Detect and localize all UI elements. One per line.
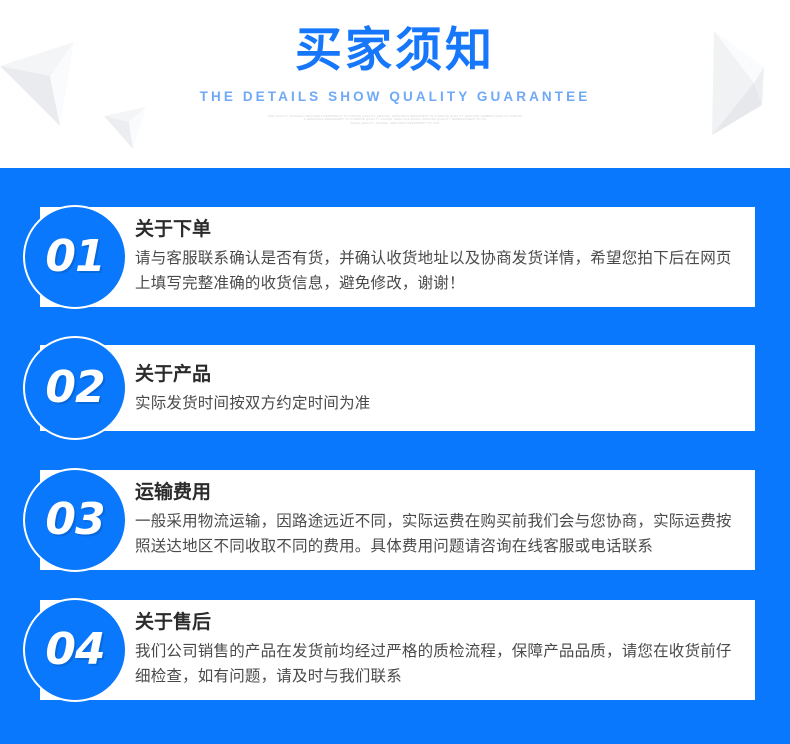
notice-card: 02 关于产品 实际发货时间按双方约定时间为准: [40, 345, 755, 431]
step-number: 03: [45, 498, 104, 542]
page-subtitle: THE DETAILS SHOW QUALITY GUARANTEE: [0, 79, 790, 104]
notice-card: 03 运输费用 一般采用物流运输，因路途远近不同，实际运费在购买前我们会与您协商…: [40, 470, 755, 570]
notice-card-content: 关于售后 我们公司销售的产品在发货前均经过严格的质检流程，保障产品品质，请您在收…: [40, 600, 755, 699]
notice-title: 关于下单: [135, 216, 741, 244]
decorative-microcopy: ONE QUALITY GUANGLA GENUGNIA DEPENDENT T…: [0, 104, 790, 126]
step-number-badge: 01: [23, 205, 127, 309]
notice-card: 04 关于售后 我们公司销售的产品在发货前均经过严格的质检流程，保障产品品质，请…: [40, 600, 755, 700]
notice-card-content: 关于下单 请与客服联系确认是否有货，并确认收货地址以及协商发货详情，希望您拍下后…: [40, 207, 755, 306]
step-number: 01: [45, 235, 104, 279]
step-number: 04: [45, 628, 104, 672]
notice-card: 01 关于下单 请与客服联系确认是否有货，并确认收货地址以及协商发货详情，希望您…: [40, 207, 755, 307]
notice-body: 实际发货时间按双方约定时间为准: [135, 391, 741, 416]
header-text-block: 买家须知 THE DETAILS SHOW QUALITY GUARANTEE …: [0, 0, 790, 125]
notice-body: 我们公司销售的产品在发货前均经过严格的质检流程，保障产品品质，请您在收货前仔细检…: [135, 639, 741, 689]
notice-title: 关于售后: [135, 609, 741, 637]
microcopy-line: GENIA QUALITY GUNDEL GENUGNIA DEPENDENT …: [0, 122, 790, 126]
step-number-badge: 03: [23, 468, 127, 572]
notice-list: 01 关于下单 请与客服联系确认是否有货，并确认收货地址以及协商发货详情，希望您…: [0, 168, 790, 744]
notice-body: 一般采用物流运输，因路途远近不同，实际运费在购买前我们会与您协商，实际运费按照送…: [135, 509, 741, 559]
step-number-badge: 02: [23, 336, 127, 440]
notice-card-content: 运输费用 一般采用物流运输，因路途远近不同，实际运费在购买前我们会与您协商，实际…: [40, 470, 755, 569]
notice-title: 关于产品: [135, 361, 741, 389]
buyer-notice-page: 买家须知 THE DETAILS SHOW QUALITY GUARANTEE …: [0, 0, 790, 744]
notice-body: 请与客服联系确认是否有货，并确认收货地址以及协商发货详情，希望您拍下后在网页上填…: [135, 246, 741, 296]
notice-title: 运输费用: [135, 479, 741, 507]
page-title: 买家须知: [0, 0, 790, 79]
page-header: 买家须知 THE DETAILS SHOW QUALITY GUARANTEE …: [0, 0, 790, 168]
step-number-badge: 04: [23, 598, 127, 702]
notice-card-content: 关于产品 实际发货时间按双方约定时间为准: [40, 345, 755, 426]
step-number: 02: [45, 366, 104, 410]
